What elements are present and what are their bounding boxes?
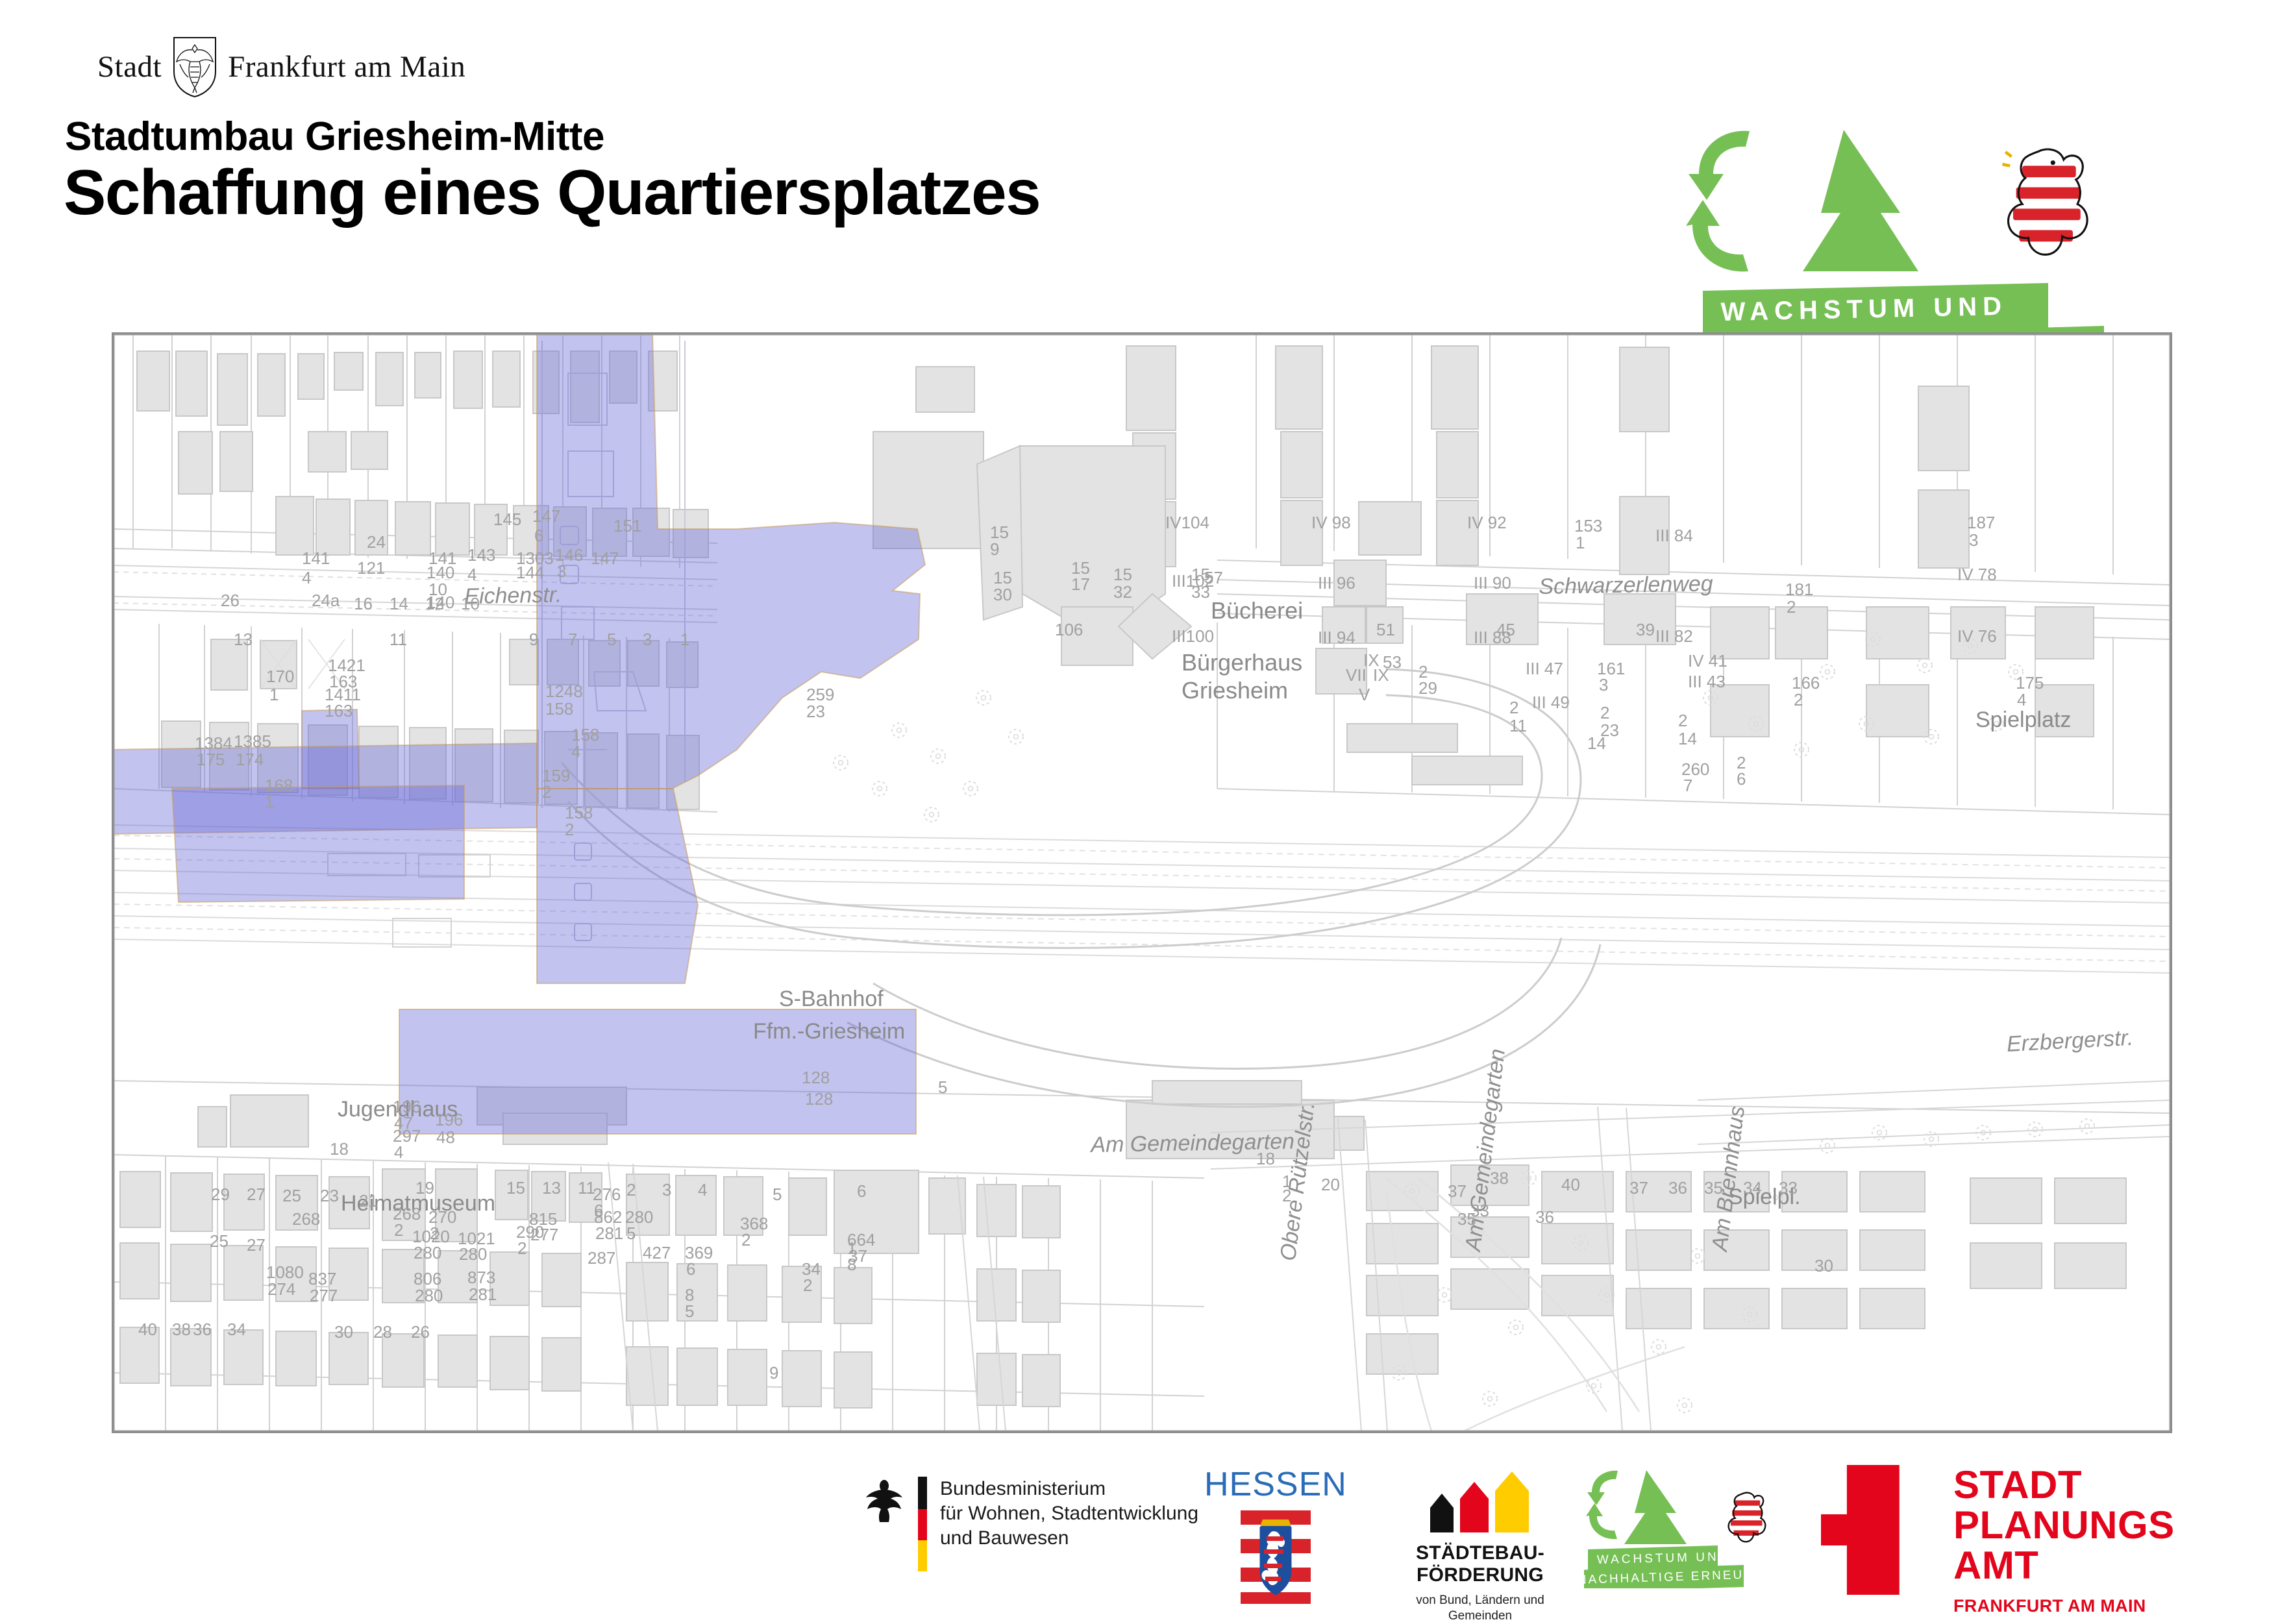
- bmwsb-line2: für Wohnen, Stadtentwicklung: [940, 1503, 1198, 1524]
- spa-line2: PLANUNGS: [1953, 1505, 2175, 1545]
- frankfurt-red-mark-icon: [1821, 1465, 1920, 1598]
- bmwsb-line1: Bundesministerium: [940, 1478, 1106, 1499]
- crest-word-frankfurt: Frankfurt am Main: [228, 49, 465, 84]
- spa-line3: AMT: [1953, 1545, 2175, 1586]
- staedtebaufoerderung-logo: STÄDTEBAU- FÖRDERUNG von Bund, Ländern u…: [1383, 1468, 1578, 1624]
- page-header: Stadt Frankfurt am Main Stadtumbau Gries…: [0, 0, 2278, 325]
- bundesadler-icon: [863, 1477, 905, 1528]
- hessen-coat-of-arms-icon: [1241, 1595, 1311, 1606]
- hessen-logo: HESSEN: [1204, 1465, 1347, 1607]
- cadastral-map[interactable]: Eichenstr.SchwarzerlenwegErzbergerstr.Am…: [112, 332, 2172, 1433]
- three-houses-icon: [1418, 1524, 1542, 1535]
- page-footer: Bundesministerium für Wohnen, Stadtentwi…: [0, 1451, 2278, 1610]
- program-logo-footer: WACHSTUM UND NACHHALTIGE ERNEUERUNG STÄD…: [1584, 1465, 1785, 1592]
- city-crest-logo: Stadt Frankfurt am Main: [97, 36, 465, 98]
- hessen-word: HESSEN: [1204, 1465, 1347, 1504]
- staedtebau-title-line1: STÄDTEBAU-: [1416, 1542, 1544, 1564]
- bmwsb-line3: und Bauwesen: [940, 1527, 1069, 1549]
- page-title: Schaffung eines Quartiersplatzes: [64, 156, 1040, 229]
- frankfurt-eagle-shield-icon: [171, 36, 219, 98]
- bmwsb-label: Bundesministerium für Wohnen, Stadtentwi…: [940, 1477, 1198, 1551]
- map-drawing: [114, 334, 2170, 1431]
- german-flag-bar: [918, 1477, 927, 1575]
- crest-word-stadt: Stadt: [97, 49, 162, 84]
- staedtebau-sub-line2: Gemeinden: [1448, 1609, 1512, 1623]
- page-subtitle: Stadtumbau Griesheim-Mitte: [65, 114, 604, 160]
- spa-line1: STADT: [1953, 1465, 2175, 1505]
- bmwsb-logo: Bundesministerium für Wohnen, Stadtentwi…: [863, 1477, 1198, 1575]
- staedtebau-title-line2: FÖRDERUNG: [1417, 1564, 1544, 1586]
- program-logo-line1: WACHSTUM UND: [1720, 292, 2007, 326]
- stadtplanungsamt-label: STADT PLANUNGS AMT FRANKFURT AM MAIN: [1953, 1465, 2175, 1616]
- stadtplanungsamt-logo: STADT PLANUNGS AMT FRANKFURT AM MAIN: [1821, 1465, 2175, 1616]
- spa-sub: FRANKFURT AM MAIN: [1953, 1596, 2175, 1616]
- staedtebau-sub-line1: von Bund, Ländern und: [1416, 1593, 1544, 1607]
